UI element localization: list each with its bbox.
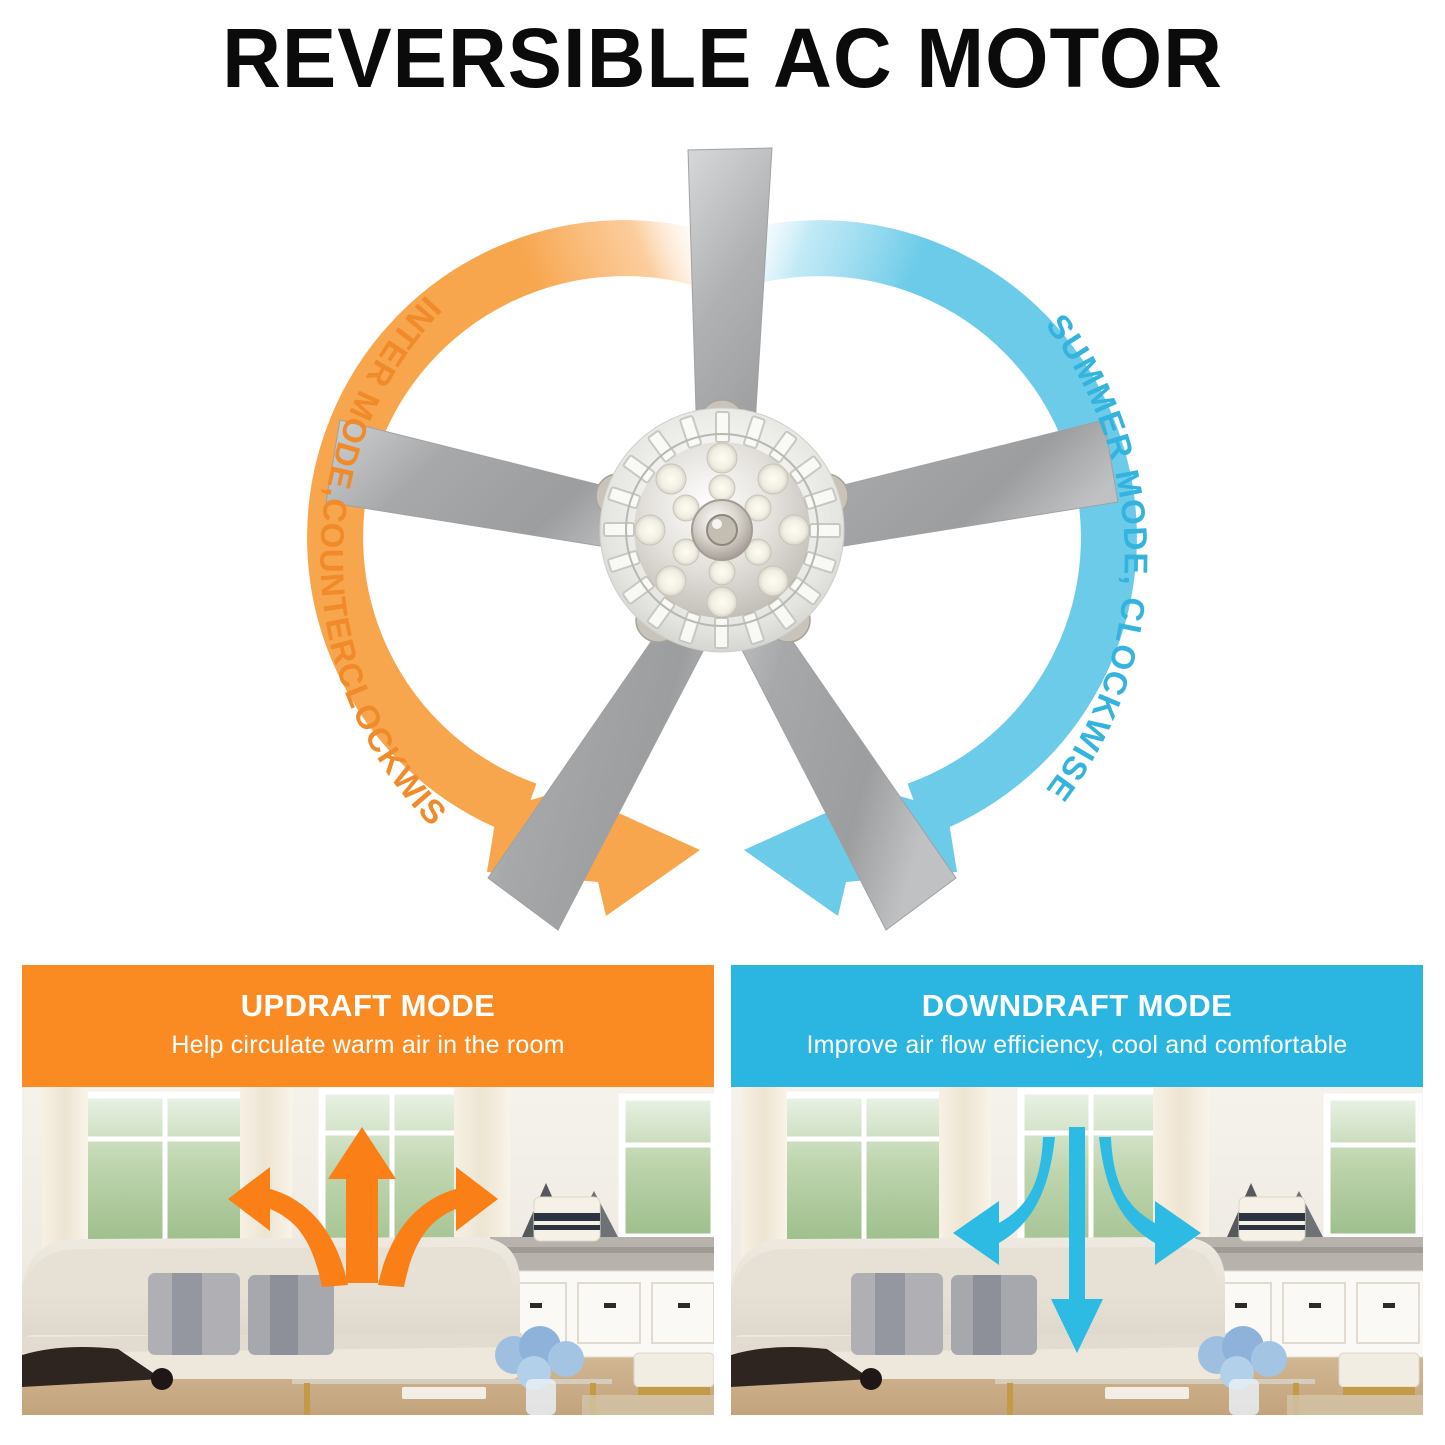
crystal-light-kit-hub <box>600 408 844 652</box>
reversible-motor-diagram: WINTER MODE,COUNTERCLOCKWISE SUMMER MODE… <box>0 110 1445 940</box>
updraft-header: UPDRAFT MODE Help circulate warm air in … <box>22 965 714 1087</box>
panel-updraft[interactable]: UPDRAFT MODE Help circulate warm air in … <box>22 965 714 1415</box>
downdraft-photo <box>731 1087 1423 1415</box>
updraft-subtitle: Help circulate warm air in the room <box>171 1031 564 1060</box>
updraft-photo <box>22 1087 714 1415</box>
panel-downdraft[interactable]: DOWNDRAFT MODE Improve air flow efficien… <box>731 965 1423 1415</box>
updraft-title: UPDRAFT MODE <box>241 989 496 1023</box>
downdraft-header: DOWNDRAFT MODE Improve air flow efficien… <box>731 965 1423 1087</box>
mode-panels: UPDRAFT MODE Help circulate warm air in … <box>22 965 1423 1415</box>
downdraft-subtitle: Improve air flow efficiency, cool and co… <box>806 1031 1347 1060</box>
downdraft-title: DOWNDRAFT MODE <box>922 989 1232 1023</box>
fan-rotation-diagram-svg: WINTER MODE,COUNTERCLOCKWISE SUMMER MODE… <box>0 110 1445 940</box>
page-title: REVERSIBLE AC MOTOR <box>22 14 1424 102</box>
